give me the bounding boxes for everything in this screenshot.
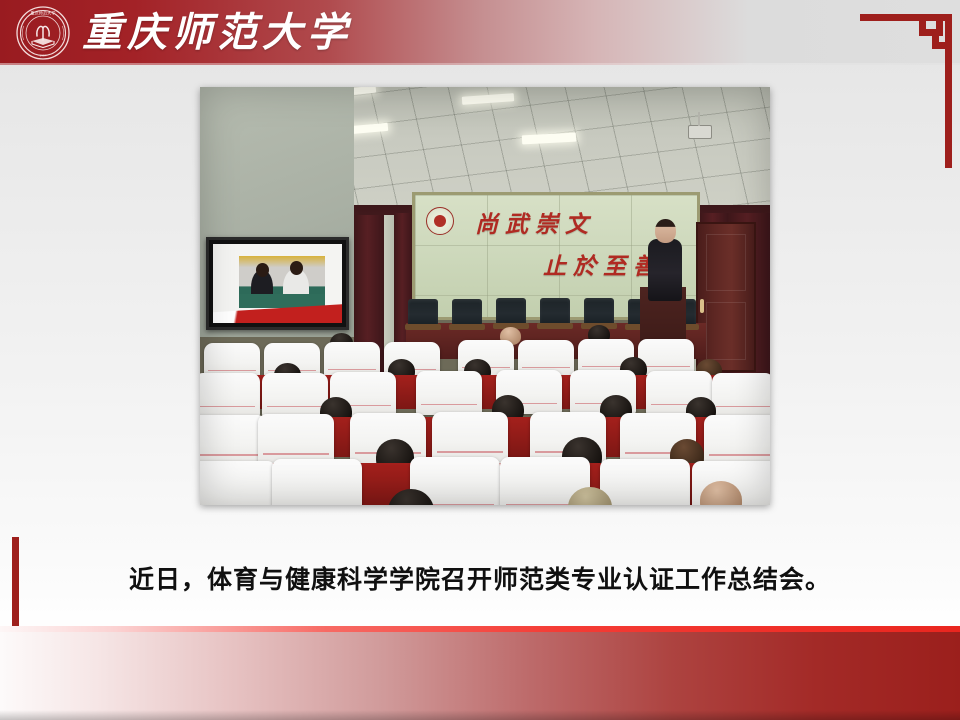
svg-text:重庆师范大学: 重庆师范大学 <box>30 10 55 17</box>
conference-room-photo: 尚武崇文 止於至善 <box>200 87 770 505</box>
presentation-screen <box>206 237 349 330</box>
audience-seat <box>200 461 276 505</box>
dais-chair <box>540 298 570 324</box>
audience-seat <box>200 373 260 417</box>
footer-banner <box>0 632 960 720</box>
audience-seat <box>704 415 770 467</box>
audience-seat <box>600 459 690 505</box>
audience-seat <box>262 373 328 417</box>
header-banner: 重庆师范大学 1954 重庆师范大学 <box>0 0 960 65</box>
screen-content-image <box>239 256 325 308</box>
dais-chair <box>408 299 438 325</box>
screen-surface <box>213 244 342 323</box>
university-name-title: 重庆师范大学 <box>82 4 352 62</box>
wall-calligraphy-line-2: 止於至善 <box>543 247 663 281</box>
audience-seat <box>416 371 482 415</box>
door-handle-icon <box>700 299 704 313</box>
wall-calligraphy-line-1: 尚武崇文 <box>475 205 595 239</box>
screen-person-right-head <box>290 261 303 275</box>
ceiling-projector-icon <box>688 125 712 139</box>
slide-canvas: 重庆师范大学 1954 重庆师范大学 <box>0 0 960 720</box>
university-seal-icon: 重庆师范大学 1954 <box>16 6 70 60</box>
standing-presenter-body <box>648 239 682 301</box>
screen-person-left-head <box>256 263 269 277</box>
screen-table <box>239 294 325 308</box>
svg-text:1954: 1954 <box>40 54 47 58</box>
audience-seat <box>200 415 266 467</box>
chinese-corner-ornament-icon-top-right <box>860 5 952 170</box>
standing-presenter-head <box>655 219 676 243</box>
dais-chair <box>496 298 526 324</box>
audience-seat <box>272 459 362 505</box>
audience-seat <box>712 373 770 417</box>
college-emblem-icon <box>426 207 454 235</box>
dais-chair <box>452 299 482 325</box>
slide-caption: 近日，体育与健康科学学院召开师范类专业认证工作总结会。 <box>0 560 960 596</box>
dais-chair <box>584 298 614 324</box>
